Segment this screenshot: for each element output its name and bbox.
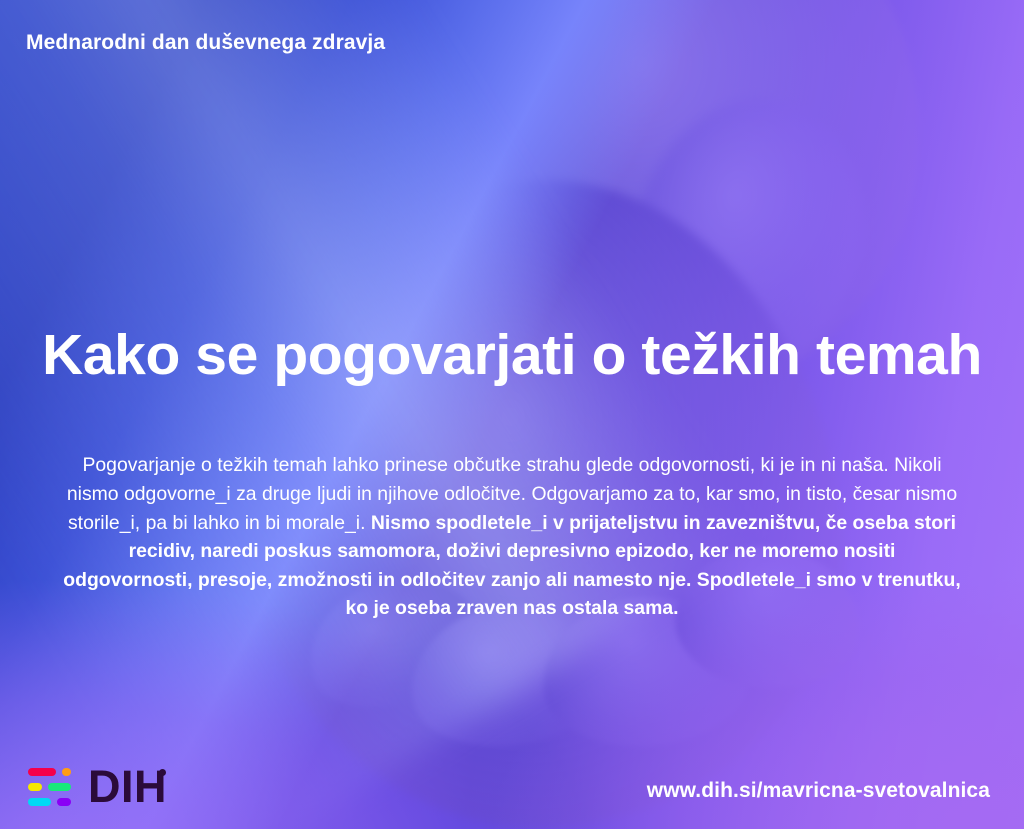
- wordmark-diaeresis-dot-icon: [159, 769, 166, 776]
- poster-content: Mednarodni dan duševnega zdravja Kako se…: [0, 0, 1024, 829]
- poster-canvas: Mednarodni dan duševnega zdravja Kako se…: [0, 0, 1024, 829]
- logo-pill-cyan-icon: [28, 798, 51, 806]
- logo-pill-green-icon: [48, 783, 71, 791]
- website-url[interactable]: www.dih.si/mavricna-svetovalnica: [647, 779, 990, 803]
- body-paragraph: Pogovarjanje o težkih temah lahko prines…: [62, 451, 962, 623]
- logo-pill-purple-icon: [57, 798, 71, 806]
- page-title: Kako se pogovarjati o težkih temah: [0, 326, 1024, 386]
- logo-dot-orange-icon: [62, 768, 71, 776]
- dih-logo-mark-icon: [28, 767, 76, 807]
- dih-logo[interactable]: DIH: [28, 764, 167, 809]
- logo-pill-red-icon: [28, 768, 56, 776]
- campaign-eyebrow: Mednarodni dan duševnega zdravja: [26, 31, 385, 55]
- dih-wordmark-text: DIH: [88, 761, 167, 812]
- dih-wordmark: DIH: [88, 764, 167, 809]
- logo-pill-yellow-icon: [28, 783, 42, 791]
